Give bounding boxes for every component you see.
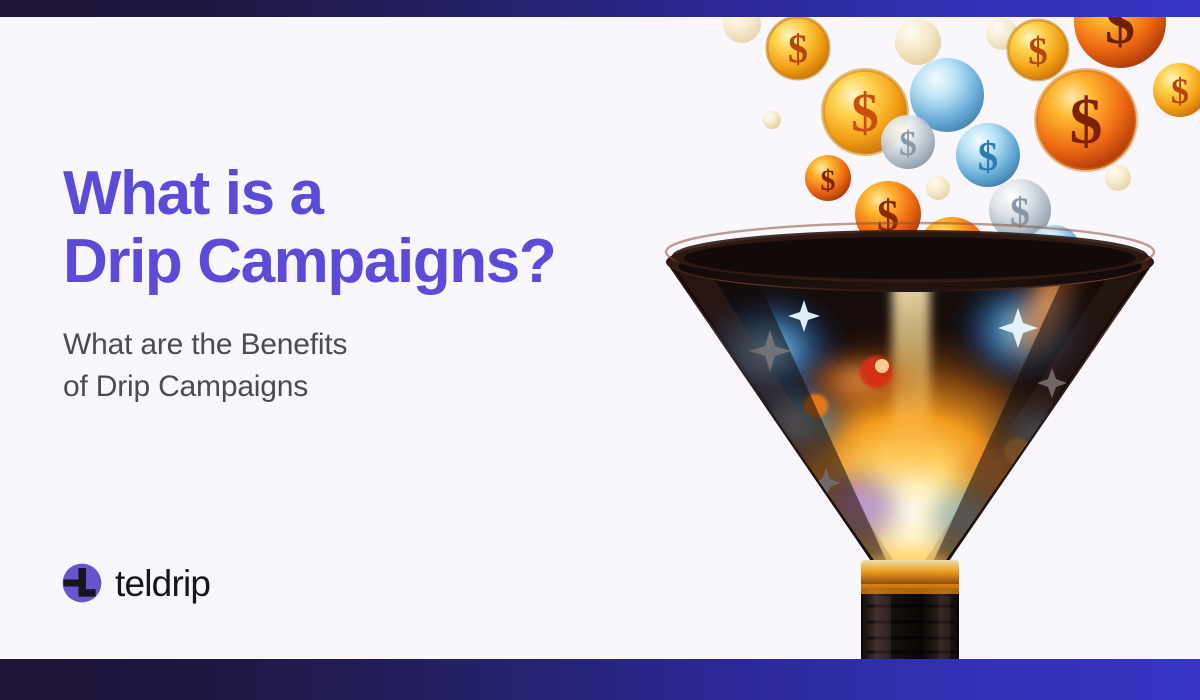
page-title: What is a Drip Campaigns? <box>63 160 663 296</box>
svg-text:$: $ <box>1070 85 1103 158</box>
money-funnel-illustration: $ $ $ $ $ <box>620 0 1200 700</box>
bottom-accent-bar <box>0 659 1200 700</box>
teldrip-logo[interactable]: teldrip <box>60 561 210 605</box>
svg-text:$: $ <box>899 124 917 163</box>
page-subtitle: What are the Benefits of Drip Campaigns <box>63 324 663 408</box>
svg-text:$: $ <box>978 133 999 179</box>
svg-text:$: $ <box>851 82 879 143</box>
funnel-body <box>660 211 1160 665</box>
svg-text:$: $ <box>821 164 836 197</box>
svg-text:$: $ <box>1171 71 1189 111</box>
funnel-stem <box>861 560 959 665</box>
slide-canvas: $ $ $ $ $ <box>0 0 1200 700</box>
svg-text:$: $ <box>1028 30 1048 73</box>
text-column: What is a Drip Campaigns? What are the B… <box>63 160 663 408</box>
top-accent-bar <box>0 0 1200 17</box>
teldrip-wordmark: teldrip <box>115 565 210 602</box>
svg-text:$: $ <box>788 26 808 71</box>
teldrip-circle-mark <box>60 561 104 605</box>
